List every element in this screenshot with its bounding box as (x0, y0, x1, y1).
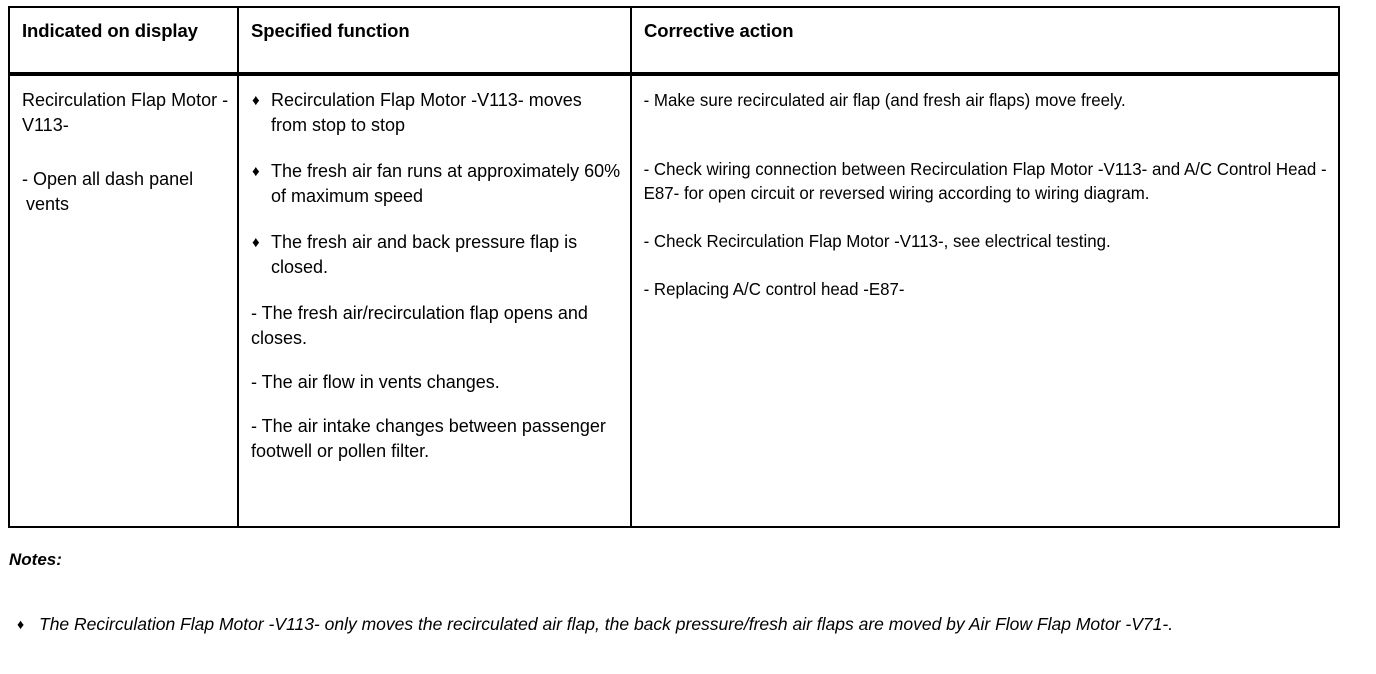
document-page: Indicated on display Specified function … (0, 0, 1376, 674)
table-header-row: Indicated on display Specified function … (10, 8, 1338, 76)
header-label-specified-function: Specified function (251, 19, 630, 42)
component-title: Recirculation Flap Motor -V113- (22, 88, 231, 138)
list-item: - The air intake changes between passeng… (249, 414, 622, 464)
list-item-label: The fresh air and back pressure flap is … (271, 230, 622, 280)
table-body-row: Recirculation Flap Motor -V113- - Open a… (10, 76, 1338, 526)
header-label-corrective-action: Corrective action (644, 19, 1338, 42)
header-cell-corrective-action: Corrective action (632, 8, 1338, 72)
list-item: - Make sure recirculated air flap (and f… (644, 88, 1350, 112)
indicated-on-display-content: Recirculation Flap Motor -V113- - Open a… (10, 76, 237, 217)
list-item: - Check wiring connection between Recirc… (644, 157, 1350, 205)
spacer (644, 205, 1350, 229)
note-list-item-label: The Recirculation Flap Motor -V113- only… (39, 611, 1349, 637)
header-cell-specified-function: Specified function (237, 8, 632, 72)
diamond-bullet-icon: ♦ (249, 159, 271, 209)
list-item: ♦ The fresh air fan runs at approximatel… (249, 159, 622, 209)
spacer (644, 253, 1350, 277)
diamond-bullet-icon: ♦ (9, 611, 39, 637)
diamond-bullet-icon: ♦ (249, 88, 271, 138)
header-cell-indicated-on-display: Indicated on display (10, 8, 237, 72)
list-item: ♦ Recirculation Flap Motor -V113- moves … (249, 88, 622, 138)
list-item: - The fresh air/recirculation flap opens… (249, 301, 622, 351)
diamond-bullet-icon: ♦ (249, 230, 271, 280)
list-item: - Check Recirculation Flap Motor -V113-,… (644, 229, 1350, 253)
list-item: - Replacing A/C control head -E87- (644, 277, 1350, 301)
header-label-indicated-on-display: Indicated on display (22, 19, 237, 42)
list-item-label: The fresh air fan runs at approximately … (271, 159, 622, 209)
list-item-label: Recirculation Flap Motor -V113- moves fr… (271, 88, 622, 138)
notes-heading: Notes: (9, 550, 62, 570)
spacer (644, 112, 1350, 157)
note-list-item: ♦ The Recirculation Flap Motor -V113- on… (9, 611, 1349, 637)
diagnostic-table: Indicated on display Specified function … (8, 6, 1340, 528)
list-item: - The air flow in vents changes. (249, 370, 622, 395)
corrective-action-content: - Make sure recirculated air flap (and f… (632, 76, 1359, 301)
cell-corrective-action: - Make sure recirculated air flap (and f… (632, 76, 1338, 526)
spacer (22, 138, 231, 167)
list-item: ♦ The fresh air and back pressure flap i… (249, 230, 622, 280)
cell-indicated-on-display: Recirculation Flap Motor -V113- - Open a… (10, 76, 237, 526)
indicated-dash-item: - Open all dash panel vents (22, 167, 231, 217)
specified-function-content: ♦ Recirculation Flap Motor -V113- moves … (239, 76, 630, 464)
cell-specified-function: ♦ Recirculation Flap Motor -V113- moves … (237, 76, 632, 526)
